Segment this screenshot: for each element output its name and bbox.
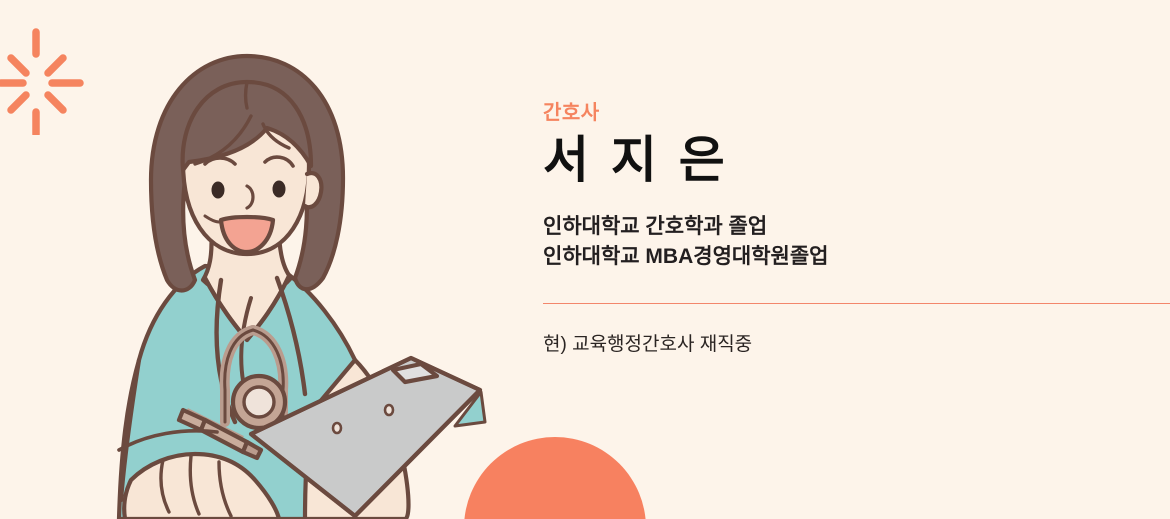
role-label: 간호사: [543, 100, 1143, 126]
nurse-illustration: [55, 30, 515, 519]
profile-info: 간호사 서 지 은 인하대학교 간호학과 졸업 인하대학교 MBA경영대학원졸업: [543, 100, 1143, 272]
current-position: 현) 교육행정간호사 재직중: [543, 332, 752, 359]
education-item: 인하대학교 간호학과 졸업: [543, 212, 1143, 242]
profile-card: 간호사 서 지 은 인하대학교 간호학과 졸업 인하대학교 MBA경영대학원졸업…: [0, 0, 1170, 519]
section-divider: [543, 303, 1170, 304]
person-name: 서 지 은: [543, 132, 1143, 188]
education-item: 인하대학교 MBA경영대학원졸업: [543, 242, 1143, 272]
education-list: 인하대학교 간호학과 졸업 인하대학교 MBA경영대학원졸업: [543, 212, 1143, 272]
